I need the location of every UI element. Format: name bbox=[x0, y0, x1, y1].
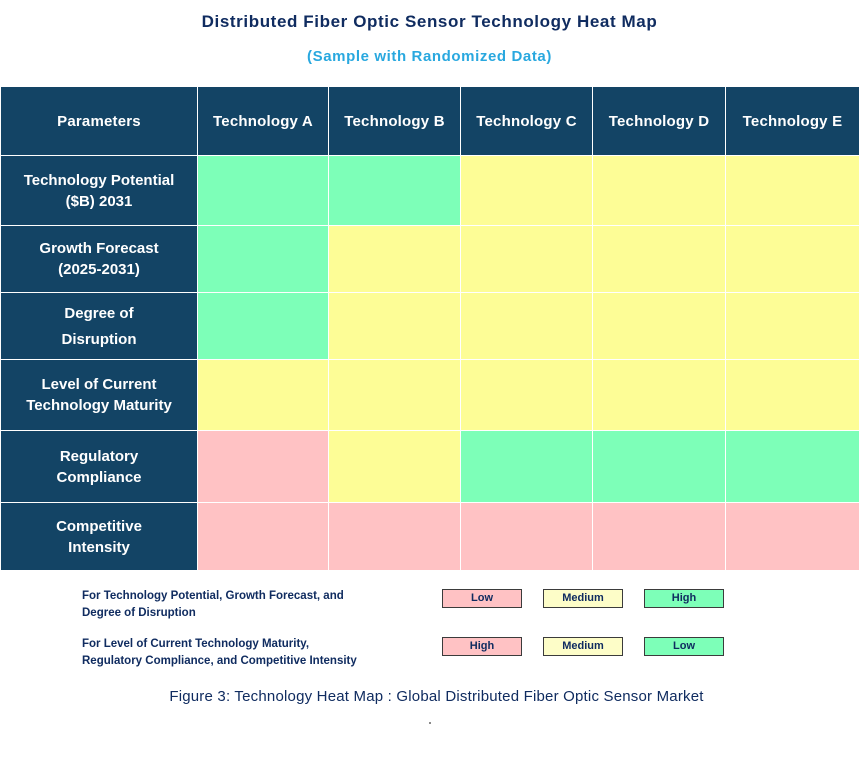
legend-swatches: LowMediumHigh bbox=[442, 589, 724, 608]
heatmap-cell bbox=[461, 503, 593, 571]
heatmap-cell bbox=[593, 156, 726, 226]
header-parameters: Parameters bbox=[1, 87, 198, 156]
heatmap-cell bbox=[198, 293, 329, 360]
row-label: RegulatoryCompliance bbox=[1, 431, 198, 503]
heatmap-cell bbox=[329, 226, 461, 293]
heatmap-cell bbox=[461, 156, 593, 226]
legend-swatches: HighMediumLow bbox=[442, 637, 724, 656]
heatmap-cell bbox=[329, 156, 461, 226]
header-technology-5: Technology E bbox=[726, 87, 859, 156]
heatmap-cell bbox=[461, 431, 593, 503]
heatmap-table: ParametersTechnology ATechnology BTechno… bbox=[0, 86, 859, 571]
heatmap-cell bbox=[198, 503, 329, 571]
header-technology-1: Technology A bbox=[198, 87, 329, 156]
table-row: CompetitiveIntensity bbox=[1, 503, 859, 571]
heatmap-cell bbox=[726, 226, 859, 293]
row-label-line1: Level of Current bbox=[41, 376, 156, 393]
legend-description-line2: Degree of Disruption bbox=[82, 605, 442, 622]
row-label-line2: Intensity bbox=[5, 537, 193, 558]
figure-caption-text: Figure 3: Technology Heat Map : Global D… bbox=[155, 688, 703, 705]
page-title: Distributed Fiber Optic Sensor Technolog… bbox=[0, 12, 859, 32]
legend-description: For Level of Current Technology Maturity… bbox=[82, 636, 442, 670]
heatmap-cell bbox=[329, 431, 461, 503]
page-subtitle: (Sample with Randomized Data) bbox=[0, 48, 859, 66]
legend-swatch: Medium bbox=[543, 637, 623, 656]
row-label: Technology Potential($B) 2031 bbox=[1, 156, 198, 226]
heatmap-cell bbox=[198, 156, 329, 226]
table-row: Growth Forecast(2025-2031) bbox=[1, 226, 859, 293]
row-label-line1: Competitive bbox=[56, 518, 142, 535]
table-row: RegulatoryCompliance bbox=[1, 431, 859, 503]
header-technology-2: Technology B bbox=[329, 87, 461, 156]
legend-row: For Level of Current Technology Maturity… bbox=[0, 636, 859, 670]
heatmap-cell bbox=[198, 431, 329, 503]
row-label-line1: Regulatory bbox=[60, 448, 138, 465]
row-label: Growth Forecast(2025-2031) bbox=[1, 226, 198, 293]
heatmap-cell bbox=[329, 503, 461, 571]
heatmap-cell bbox=[726, 156, 859, 226]
row-label-line2: Compliance bbox=[5, 467, 193, 488]
row-label-line1: Degree of bbox=[5, 303, 193, 324]
row-label-line2: (2025-2031) bbox=[5, 259, 193, 280]
legend-description-line2: Regulatory Compliance, and Competitive I… bbox=[82, 653, 442, 670]
row-label-line1: Growth Forecast bbox=[39, 240, 158, 257]
heatmap-body: Technology Potential($B) 2031Growth Fore… bbox=[1, 156, 859, 571]
header-row: ParametersTechnology ATechnology BTechno… bbox=[1, 87, 859, 156]
heatmap-cell bbox=[329, 360, 461, 431]
caption-dot bbox=[429, 722, 431, 724]
heatmap-cell bbox=[593, 431, 726, 503]
row-label-line2: Disruption bbox=[5, 329, 193, 350]
legend-swatch: Low bbox=[442, 589, 522, 608]
table-row: Technology Potential($B) 2031 bbox=[1, 156, 859, 226]
heatmap-cell bbox=[726, 360, 859, 431]
title-block: Distributed Fiber Optic Sensor Technolog… bbox=[0, 0, 859, 66]
heatmap-cell bbox=[593, 503, 726, 571]
heatmap-cell bbox=[726, 503, 859, 571]
heatmap-cell bbox=[593, 293, 726, 360]
heatmap-cell bbox=[198, 360, 329, 431]
heatmap-cell bbox=[461, 360, 593, 431]
legend-description-line1: For Level of Current Technology Maturity… bbox=[82, 636, 442, 653]
heatmap-header: ParametersTechnology ATechnology BTechno… bbox=[1, 87, 859, 156]
legend-description-line1: For Technology Potential, Growth Forecas… bbox=[82, 588, 442, 605]
legend: For Technology Potential, Growth Forecas… bbox=[0, 588, 859, 684]
header-technology-4: Technology D bbox=[593, 87, 726, 156]
row-label: Level of CurrentTechnology Maturity bbox=[1, 360, 198, 431]
heatmap-cell bbox=[461, 226, 593, 293]
legend-row: For Technology Potential, Growth Forecas… bbox=[0, 588, 859, 622]
heatmap-cell bbox=[329, 293, 461, 360]
row-label: CompetitiveIntensity bbox=[1, 503, 198, 571]
legend-swatch: High bbox=[644, 589, 724, 608]
legend-swatch: Medium bbox=[543, 589, 623, 608]
header-technology-3: Technology C bbox=[461, 87, 593, 156]
figure-caption: Figure 3: Technology Heat Map : Global D… bbox=[0, 688, 859, 705]
heatmap-cell bbox=[593, 226, 726, 293]
heatmap-cell bbox=[461, 293, 593, 360]
table-row: Level of CurrentTechnology Maturity bbox=[1, 360, 859, 431]
heatmap-container: ParametersTechnology ATechnology BTechno… bbox=[0, 86, 859, 571]
heatmap-cell bbox=[198, 226, 329, 293]
row-label: Degree ofDisruption bbox=[1, 293, 198, 360]
heatmap-cell bbox=[593, 360, 726, 431]
heatmap-cell bbox=[726, 293, 859, 360]
row-label-line1: Technology Potential bbox=[24, 172, 175, 189]
row-label-line2: ($B) 2031 bbox=[5, 191, 193, 212]
table-row: Degree ofDisruption bbox=[1, 293, 859, 360]
legend-swatch: Low bbox=[644, 637, 724, 656]
legend-swatch: High bbox=[442, 637, 522, 656]
row-label-line2: Technology Maturity bbox=[5, 395, 193, 416]
heatmap-cell bbox=[726, 431, 859, 503]
legend-description: For Technology Potential, Growth Forecas… bbox=[82, 588, 442, 622]
